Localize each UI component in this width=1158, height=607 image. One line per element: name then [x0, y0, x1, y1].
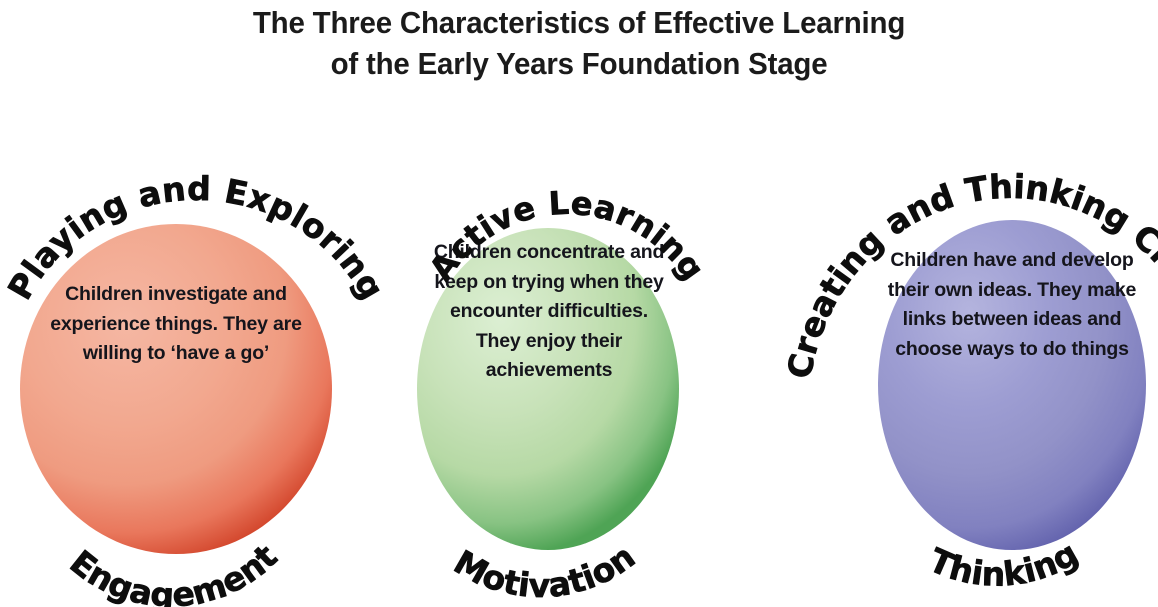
circle-body-text-engagement: Children investigate and experience thin…: [48, 280, 304, 369]
infographic-poster: The Three Characteristics of Effective L…: [0, 0, 1158, 607]
characteristic-card-creating-and-thinking-critically: Creating and Thinking Critically Childre…: [780, 180, 1158, 607]
title-line-1: The Three Characteristics of Effective L…: [29, 2, 1129, 43]
title-line-2: of the Early Years Foundation Stage: [29, 43, 1129, 84]
circle-body-text-motivation: Children concentrate and keep on trying …: [431, 238, 667, 386]
page-title: The Three Characteristics of Effective L…: [0, 2, 1158, 84]
characteristic-card-active-learning: Active Learning Children concentrate and…: [395, 180, 735, 607]
circle-body-text-thinking: Children have and develop their own idea…: [886, 246, 1138, 364]
characteristic-card-playing-and-exploring: Playing and Exploring Children investiga…: [0, 180, 390, 607]
circle-shape-engagement: [20, 224, 332, 554]
